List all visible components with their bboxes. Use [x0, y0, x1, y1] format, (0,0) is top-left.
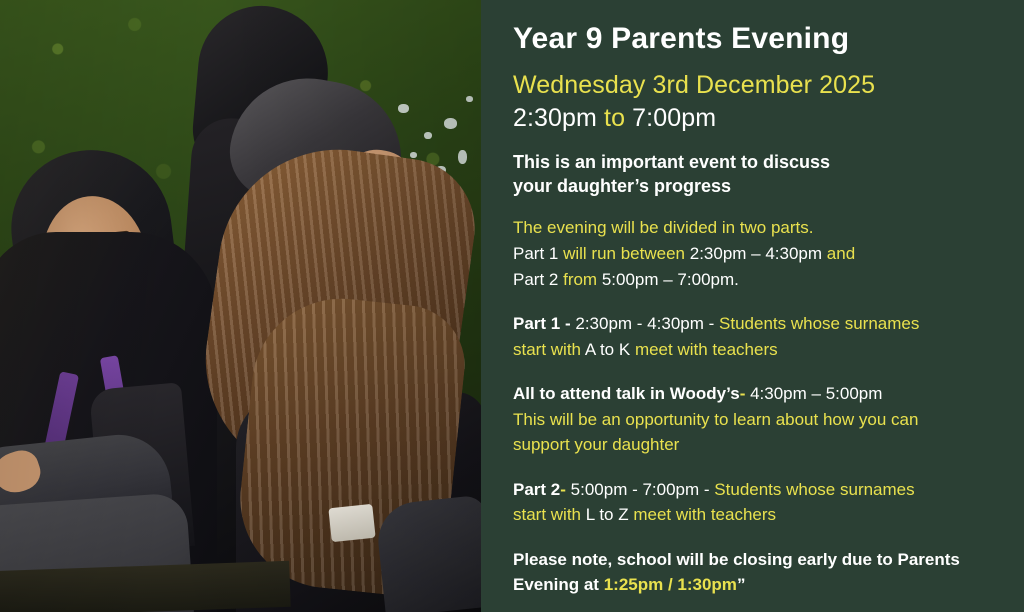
- note-line-1: Please note, school will be closing earl…: [513, 547, 990, 573]
- students-photo: [0, 0, 481, 612]
- intro-line-3: Part 2 from 5:00pm – 7:00pm.: [513, 267, 990, 293]
- talk-times: 4:30pm – 5:00pm: [750, 384, 882, 403]
- time-start: 2:30pm: [513, 104, 597, 132]
- lead-line-2: your daughter’s progress: [513, 174, 990, 198]
- part1-desc-d: meet with teachers: [635, 340, 778, 359]
- intro-l2-times: 2:30pm – 4:30pm: [690, 244, 822, 263]
- intro-paragraph: The evening will be divided in two parts…: [513, 215, 990, 292]
- part1-desc-b: start with: [513, 340, 581, 359]
- poster-date: Wednesday 3rd December 2025: [513, 70, 990, 102]
- part1-times: 2:30pm - 4:30pm -: [575, 314, 714, 333]
- photo-shading-overlay: [0, 0, 481, 612]
- part2-dash: -: [560, 480, 566, 499]
- part2-line-2: start with L to Z meet with teachers: [513, 502, 990, 528]
- part2-desc-range: L to Z: [586, 505, 629, 524]
- part2-desc-d: meet with teachers: [633, 505, 776, 524]
- intro-l2-willrun: will run between: [563, 244, 685, 263]
- part2-desc-a: Students whose surnames: [714, 480, 914, 499]
- intro-l2-and: and: [827, 244, 855, 263]
- intro-l3-part2: Part 2: [513, 270, 558, 289]
- intro-line-1: The evening will be divided in two parts…: [513, 215, 990, 241]
- note-evening-at: Evening at: [513, 575, 599, 594]
- talk-desc-line-2: support your daughter: [513, 432, 990, 458]
- part2-desc-b: start with: [513, 505, 581, 524]
- time-joiner: to: [604, 104, 625, 132]
- part1-line-1: Part 1 - 2:30pm - 4:30pm - Students whos…: [513, 311, 990, 337]
- part1-block: Part 1 - 2:30pm - 4:30pm - Students whos…: [513, 311, 990, 362]
- part1-desc-a: Students whose surnames: [719, 314, 919, 333]
- poster-time: 2:30pm to 7:00pm: [513, 102, 990, 135]
- part1-desc-range: A to K: [585, 340, 630, 359]
- closing-note-block: Please note, school will be closing earl…: [513, 547, 990, 598]
- poster-text-panel: Year 9 Parents Evening Wednesday 3rd Dec…: [481, 0, 1024, 612]
- talk-line-1: All to attend talk in Woody’s- 4:30pm – …: [513, 381, 990, 407]
- lead-line-1: This is an important event to discuss: [513, 150, 990, 174]
- intro-l2-part1: Part 1: [513, 244, 558, 263]
- part2-block: Part 2- 5:00pm - 7:00pm - Students whose…: [513, 477, 990, 528]
- part1-label: Part 1 -: [513, 314, 571, 333]
- time-end: 7:00pm: [632, 104, 716, 132]
- talk-block: All to attend talk in Woody’s- 4:30pm – …: [513, 381, 990, 458]
- talk-desc-line-1: This will be an opportunity to learn abo…: [513, 407, 990, 433]
- poster-lead: This is an important event to discuss yo…: [513, 150, 990, 199]
- part2-times: 5:00pm - 7:00pm -: [571, 480, 710, 499]
- note-quote: ”: [737, 575, 746, 594]
- talk-dash: -: [740, 384, 746, 403]
- part2-line-1: Part 2- 5:00pm - 7:00pm - Students whose…: [513, 477, 990, 503]
- note-line-2: Evening at 1:25pm / 1:30pm”: [513, 572, 990, 598]
- talk-label: All to attend talk in Woody’s: [513, 384, 740, 403]
- intro-l3-times: 5:00pm – 7:00pm.: [602, 270, 739, 289]
- intro-line-2: Part 1 will run between 2:30pm – 4:30pm …: [513, 241, 990, 267]
- intro-l3-from: from: [563, 270, 597, 289]
- part1-line-2: start with A to K meet with teachers: [513, 337, 990, 363]
- intro-l1: The evening will be divided in two parts…: [513, 218, 814, 237]
- part2-label: Part 2: [513, 480, 560, 499]
- note-closing-times: 1:25pm / 1:30pm: [604, 575, 737, 594]
- poster-title: Year 9 Parents Evening: [513, 22, 990, 56]
